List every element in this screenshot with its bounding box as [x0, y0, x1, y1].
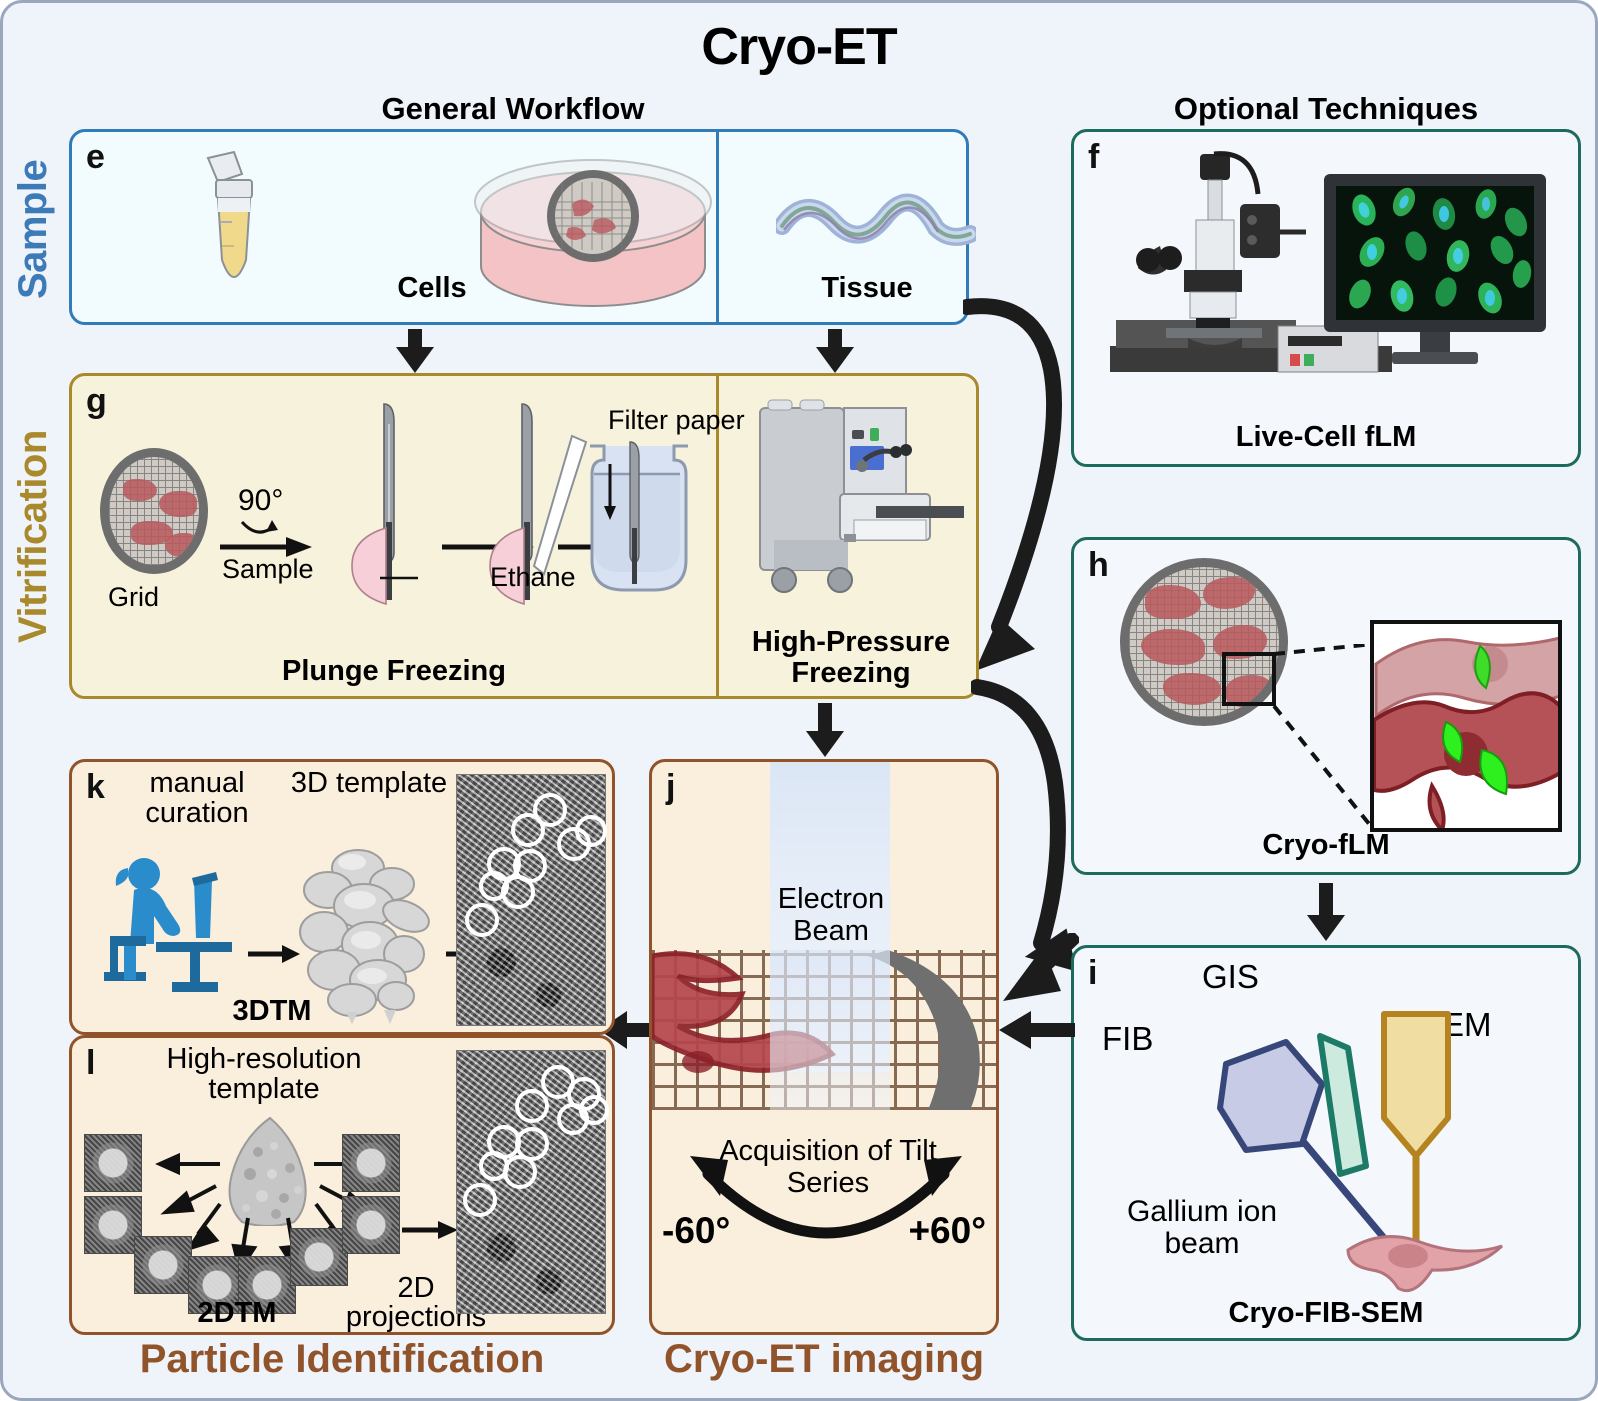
tube-icon — [182, 150, 292, 316]
cell-shape — [165, 533, 197, 557]
worm-icon — [776, 186, 976, 272]
sample-label-tissue: Tissue — [772, 272, 962, 305]
grid-lamella-graphic — [652, 950, 996, 1110]
label-tilt-min: -60° — [662, 1210, 730, 1252]
arrow-vitrification-to-imaging — [818, 703, 832, 733]
arrow-tissue-to-hpf — [828, 329, 842, 349]
beam-overlay — [770, 950, 890, 1110]
group-title-cryo-et-imaging: Cryo-ET imaging — [639, 1337, 1009, 1382]
panel-caption-i: Cryo-FIB-SEM — [1074, 1297, 1578, 1330]
petri-dish-icon — [468, 154, 718, 314]
tweezers-sample-icon — [350, 402, 430, 616]
panel-letter-l: l — [86, 1044, 95, 1083]
panel-letter-j: j — [666, 768, 675, 807]
arrow-cells-to-vitrification — [408, 329, 422, 349]
tomogram-icon — [456, 1050, 606, 1314]
optional-column-title: Optional Techniques — [1071, 91, 1581, 127]
panel-caption-2dtm: 2DTM — [72, 1297, 402, 1330]
panel-sample: e — [69, 129, 969, 325]
panel-2dtm: l High-resolution template — [69, 1035, 615, 1335]
zoom-leader-lines — [1270, 644, 1380, 834]
particle-circle — [579, 1095, 609, 1125]
panel-cryo-flm: h Cryo-f — [1071, 537, 1581, 875]
panel-caption-plunge-freezing: Plunge Freezing — [72, 655, 716, 688]
panel-letter-k: k — [86, 768, 105, 807]
label-ethane: Ethane — [490, 562, 576, 593]
sample-label-cells: Cells — [362, 272, 502, 305]
projection-thumbnail-icon — [134, 1236, 192, 1294]
panel-letter-e: e — [86, 138, 105, 177]
label-sample-step: Sample — [222, 554, 314, 585]
panel-letter-i: i — [1088, 954, 1097, 993]
particle-circle — [465, 903, 499, 937]
particle-circle — [511, 813, 545, 847]
grid-disc-icon — [100, 448, 208, 574]
cell-shape — [123, 479, 157, 501]
label-grid: Grid — [108, 582, 159, 613]
roi-box — [1222, 652, 1276, 706]
label-high-resolution-template: High-resolution template — [114, 1044, 414, 1105]
panel-live-cell-flm: f — [1071, 129, 1581, 467]
label-filter-paper: Filter paper — [608, 406, 745, 434]
particle-circle — [503, 1155, 537, 1189]
panel-vitrification: g Grid 90° Sample — [69, 373, 979, 699]
panel-cryo-et-imaging: j Electron Beam Acquisition of Tilt Seri… — [649, 759, 999, 1335]
panel-caption-f: Live-Cell fLM — [1074, 421, 1578, 454]
projection-thumbnail-icon — [342, 1196, 400, 1254]
panel-caption-high-pressure-freezing: High-Pressure Freezing — [722, 627, 980, 688]
cell-shape — [1145, 585, 1201, 619]
panel-caption-h: Cryo-fLM — [1074, 829, 1578, 862]
label-tilt-max: +60° — [908, 1210, 986, 1252]
cell-shape — [159, 491, 197, 517]
arrow-projections-to-tomogram — [402, 1220, 458, 1240]
particle-circle — [575, 815, 607, 847]
panel-3dtm: k manual curation 3D template — [69, 759, 615, 1035]
label-rotation: 90° — [238, 484, 283, 518]
particle-circle — [463, 1183, 497, 1217]
page-title: Cryo-ET — [3, 17, 1595, 77]
person-at-computer-icon — [96, 854, 246, 994]
arrow-cryoflm-to-fibsem — [1319, 883, 1333, 917]
workflow-column-title: General Workflow — [63, 91, 963, 127]
arrow-fibsem-to-imaging — [999, 1007, 1075, 1053]
fib-sem-diagram-icon — [1134, 988, 1534, 1298]
monitor-icon — [1320, 170, 1570, 380]
particle-circle — [501, 875, 535, 909]
group-title-particle-identification: Particle Identification — [63, 1337, 621, 1382]
stage-label-sample: Sample — [11, 131, 56, 327]
tomogram-icon — [456, 774, 606, 1026]
projection-thumbnail-icon — [342, 1134, 400, 1192]
projection-thumbnail-icon — [84, 1134, 142, 1192]
panel-letter-h: h — [1088, 546, 1109, 585]
stage-label-vitrification: Vitrification — [11, 375, 56, 699]
panel-caption-3dtm: 3DTM — [72, 995, 472, 1028]
label-electron-beam: Electron Beam — [738, 884, 924, 948]
high-pressure-freezer-icon — [744, 394, 974, 604]
figure-canvas: Cryo-ET General Workflow Optional Techni… — [0, 0, 1598, 1401]
ethane-cup-icon — [572, 434, 718, 616]
panel-cryo-fib-sem: i GIS SEM FIB Gallium ion beam Cryo-FIB-… — [1071, 945, 1581, 1341]
arrow-diagonal-to-imaging — [999, 933, 1079, 1007]
panel-letter-f: f — [1088, 138, 1099, 177]
label-3d-template: 3D template — [284, 768, 454, 798]
panel-letter-g: g — [86, 382, 107, 421]
zoom-inset-icon — [1370, 620, 1562, 832]
particle-circle — [515, 1089, 549, 1123]
label-manual-curation: manual curation — [122, 768, 272, 829]
